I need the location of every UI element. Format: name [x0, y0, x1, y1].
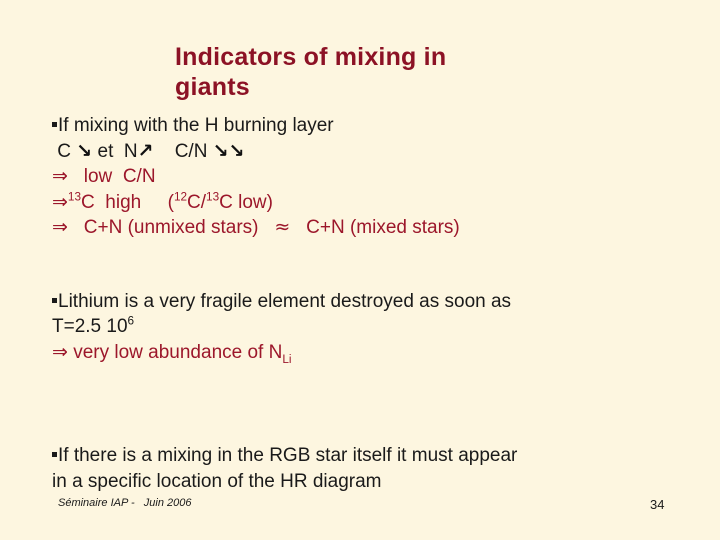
- isotope-superscript-13: 13: [68, 190, 81, 203]
- isotope-ratio-part-a: C/: [187, 192, 206, 213]
- bullet-item-rgb-text: If there is a mixing in the RGB star its…: [58, 445, 517, 466]
- arrow-up-right-icon: ↗: [138, 140, 154, 162]
- bullet-item-mixing-text: If mixing with the H burning layer: [58, 115, 334, 136]
- temperature-line: T=2.5 106: [52, 314, 692, 340]
- conjunction-et: et: [98, 141, 114, 162]
- implies-icon-3: ⇒: [52, 216, 68, 238]
- arrow-down-right-icon-3: ↘: [229, 140, 245, 162]
- page-title-line-1: Indicators of mixing in: [175, 42, 605, 72]
- implication-lithium-text: very low abundance of N: [73, 342, 282, 363]
- bullet-item-mixing: If mixing with the H burning layer: [52, 113, 692, 139]
- isotope-superscript-13b: 13: [206, 190, 219, 203]
- section-gap-2: [52, 365, 692, 413]
- implication-c13-high-text: C high: [81, 192, 141, 213]
- cn-unmixed-text: C+N (unmixed stars): [84, 217, 259, 238]
- bullet-item-lithium-text: Lithium is a very fragile element destro…: [58, 291, 511, 312]
- bullet-icon-2: [52, 298, 57, 303]
- bullet-icon-3: [52, 452, 57, 457]
- approx-equal-icon: ≈: [274, 216, 290, 238]
- temperature-value: T=2.5 10: [52, 316, 128, 337]
- implication-c13-high: ⇒13C high (12C/13C low): [52, 190, 692, 216]
- temperature-exponent: 6: [128, 315, 135, 328]
- element-n: N: [124, 141, 138, 162]
- bullet-item-lithium: Lithium is a very fragile element destro…: [52, 289, 692, 315]
- slide-body: If mixing with the H burning layer C ↘ e…: [52, 113, 692, 494]
- implies-icon-4: ⇒: [52, 341, 68, 363]
- section-gap-3: [52, 413, 692, 443]
- implies-icon-2: ⇒: [52, 191, 68, 213]
- lithium-subscript: Li: [282, 352, 291, 365]
- isotope-superscript-12: 12: [174, 190, 187, 203]
- element-c: C: [57, 141, 71, 162]
- reaction-line: C ↘ et N↗ C/N ↘↘: [52, 139, 692, 165]
- page-title-line-2: giants: [175, 72, 605, 102]
- isotope-ratio-part-b: C low): [219, 192, 273, 213]
- implication-lithium-abundance: ⇒ very low abundance of NLi: [52, 340, 692, 366]
- footer-credit: Séminaire IAP - Juin 2006: [58, 497, 192, 509]
- arrow-down-right-icon-2: ↘: [213, 140, 229, 162]
- section-gap-1: [52, 241, 692, 289]
- implication-low-cn-text: low C/N: [84, 166, 156, 187]
- footer-page-number: 34: [650, 497, 664, 512]
- implies-icon: ⇒: [52, 165, 68, 187]
- bullet-item-rgb: If there is a mixing in the RGB star its…: [52, 443, 692, 469]
- page-title: Indicators of mixing in giants: [175, 42, 605, 102]
- ratio-cn: C/N: [175, 141, 208, 162]
- implication-cn-sum: ⇒ C+N (unmixed stars) ≈ C+N (mixed stars…: [52, 215, 692, 241]
- implication-low-cn: ⇒ low C/N: [52, 164, 692, 190]
- bullet-icon: [52, 122, 57, 127]
- slide-canvas: Indicators of mixing in giants If mixing…: [0, 0, 720, 540]
- bullet-item-rgb-cont: in a specific location of the HR diagram: [52, 469, 692, 495]
- arrow-down-right-icon: ↘: [76, 140, 92, 162]
- cn-mixed-text: C+N (mixed stars): [306, 217, 460, 238]
